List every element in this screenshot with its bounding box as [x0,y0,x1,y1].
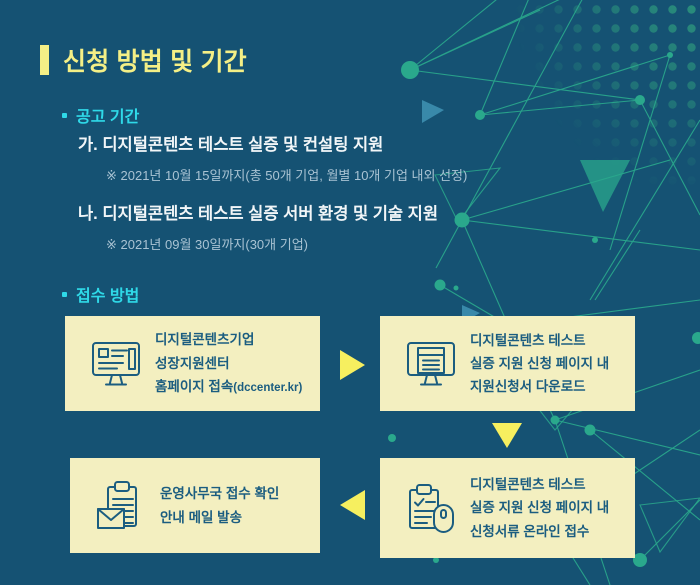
clipboard-mouse-icon [392,481,470,535]
announcement-item-a-note: ※ 2021년 10월 15일까지(총 50개 기업, 월별 10개 기업 내외… [106,165,467,184]
monitor-document-icon [392,339,470,389]
section-heading-label: 공고 기간 [76,103,139,127]
bullet-square-icon [62,113,67,118]
flow-step-1-line-3: 홈페이지 접속 [155,379,233,394]
section-heading-announcement: 공고 기간 [62,103,139,127]
page-header: 신청 방법 및 기간 [40,42,247,78]
flow-step-2-line-3: 지원신청서 다운로드 [470,375,609,398]
arrow-down-icon [492,423,522,448]
title-accent-bar [40,45,49,75]
flow-step-3-line-3: 신청서류 온라인 접수 [470,520,609,543]
section-heading-application: 접수 방법 [62,282,139,306]
flow-step-1-line-2: 성장지원센터 [155,352,302,375]
flow-step-1: 디지털콘텐츠기업 성장지원센터 홈페이지 접속(dccenter.kr) [65,316,320,411]
flow-step-2: 디지털콘텐츠 테스트 실증 지원 신청 페이지 내 지원신청서 다운로드 [380,316,635,411]
page-title: 신청 방법 및 기간 [63,42,247,78]
announcement-item-a-title: 가. 디지털콘텐츠 테스트 실증 및 컨설팅 지원 [78,131,467,155]
flow-step-1-text: 디지털콘텐츠기업 성장지원센터 홈페이지 접속(dccenter.kr) [155,328,302,398]
bullet-square-icon [62,292,67,297]
flow-step-1-line-1: 디지털콘텐츠기업 [155,328,302,351]
flow-step-3-line-1: 디지털콘텐츠 테스트 [470,473,609,496]
flow-step-3-text: 디지털콘텐츠 테스트 실증 지원 신청 페이지 내 신청서류 온라인 접수 [470,473,609,543]
clipboard-envelope-icon [82,479,160,533]
flow-step-3: 디지털콘텐츠 테스트 실증 지원 신청 페이지 내 신청서류 온라인 접수 [380,458,635,558]
flow-step-3-line-2: 실증 지원 신청 페이지 내 [470,496,609,519]
flow-step-4-text: 운영사무국 접수 확인 안내 메일 발송 [160,482,279,528]
announcement-item-b-note: ※ 2021년 09월 30일까지(30개 기업) [106,234,438,253]
flow-step-4: 운영사무국 접수 확인 안내 메일 발송 [70,458,320,553]
flow-step-2-line-2: 실증 지원 신청 페이지 내 [470,352,609,375]
arrow-right-icon [340,350,365,380]
section-heading-label: 접수 방법 [76,282,139,306]
flow-step-2-text: 디지털콘텐츠 테스트 실증 지원 신청 페이지 내 지원신청서 다운로드 [470,329,609,399]
infographic-page: 신청 방법 및 기간 공고 기간 가. 디지털콘텐츠 테스트 실증 및 컨설팅 … [0,0,700,585]
arrow-left-icon [340,490,365,520]
flow-step-4-line-2: 안내 메일 발송 [160,506,279,529]
monitor-webpage-icon [77,339,155,389]
flow-step-2-line-1: 디지털콘텐츠 테스트 [470,329,609,352]
announcement-item-a: 가. 디지털콘텐츠 테스트 실증 및 컨설팅 지원 ※ 2021년 10월 15… [78,131,467,184]
flow-step-4-line-1: 운영사무국 접수 확인 [160,482,279,505]
announcement-item-b-title: 나. 디지털콘텐츠 테스트 실증 서버 환경 및 기술 지원 [78,200,438,224]
flow-step-1-url: (dccenter.kr) [233,382,302,394]
flow-step-1-line-3-wrap: 홈페이지 접속(dccenter.kr) [155,375,302,399]
announcement-item-b: 나. 디지털콘텐츠 테스트 실증 서버 환경 및 기술 지원 ※ 2021년 0… [78,200,438,253]
